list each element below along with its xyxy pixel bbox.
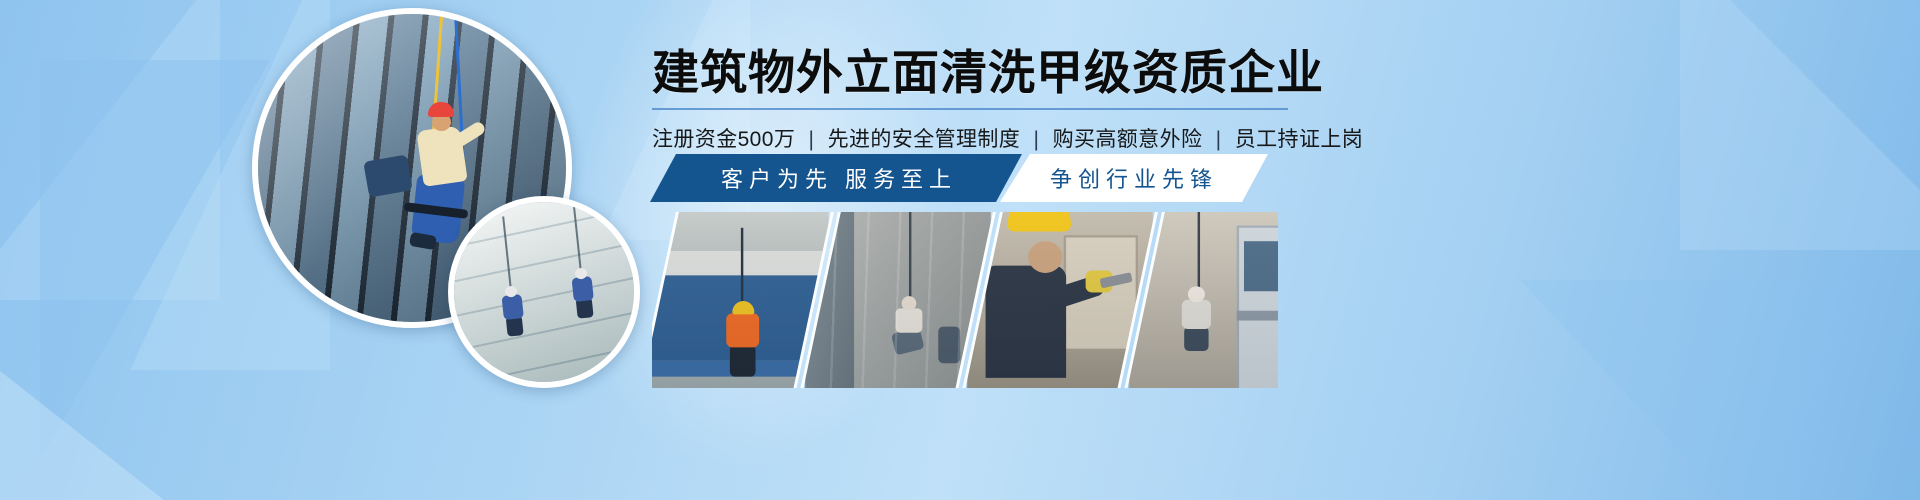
slogan-white-text: 争创行业先锋 xyxy=(1050,162,1218,194)
background-triangle-e xyxy=(1680,0,1920,250)
photo-tint xyxy=(652,212,834,388)
subtitle-part-3: 购买高额意外险 xyxy=(1053,128,1203,151)
background-triangle-f xyxy=(1520,280,1800,500)
slogan-ribbon: 客户为先 服务至上 争创行业先锋 xyxy=(650,154,1270,202)
slogan-ribbon-blue-segment: 客户为先 服务至上 xyxy=(650,154,1022,202)
background-triangle-d xyxy=(0,300,240,500)
subtitle-separator-1: | xyxy=(809,128,815,151)
subtitle-separator-2: | xyxy=(1033,128,1039,151)
subtitle-part-4: 员工持证上岗 xyxy=(1235,128,1363,151)
banner-headline: 建筑物外立面清洗甲级资质企业 xyxy=(652,48,1312,97)
promo-banner: 建筑物外立面清洗甲级资质企业 注册资金500万 | 先进的安全管理制度 | 购买… xyxy=(0,0,1920,500)
slogan-blue-text: 客户为先 服务至上 xyxy=(715,162,957,194)
photo-strip-item-1 xyxy=(652,212,834,388)
photo-strip xyxy=(652,212,1278,388)
safety-helmet-icon xyxy=(428,102,454,117)
worker-body xyxy=(501,294,523,320)
subtitle-separator-3: | xyxy=(1216,128,1222,151)
cleaning-bucket xyxy=(363,154,413,197)
headline-block: 建筑物外立面清洗甲级资质企业 注册资金500万 | 先进的安全管理制度 | 购买… xyxy=(652,48,1312,153)
circle-photo-light-facade xyxy=(448,196,640,388)
photo-strip-item-3 xyxy=(962,212,1158,388)
subtitle-part-1: 注册资金500万 xyxy=(652,128,795,151)
slogan-ribbon-white-segment: 争创行业先锋 xyxy=(1000,154,1268,202)
photo-tint xyxy=(800,212,996,388)
photo-tint xyxy=(962,212,1158,388)
light-facade-image xyxy=(454,202,634,382)
banner-subtitle: 注册资金500万 | 先进的安全管理制度 | 购买高额意外险 | 员工持证上岗 xyxy=(652,123,1312,153)
headline-underline xyxy=(652,108,1288,110)
photo-strip-item-2 xyxy=(800,212,996,388)
subtitle-part-2: 先进的安全管理制度 xyxy=(828,128,1021,151)
worker-arm xyxy=(451,120,487,149)
worker-body xyxy=(571,276,593,302)
